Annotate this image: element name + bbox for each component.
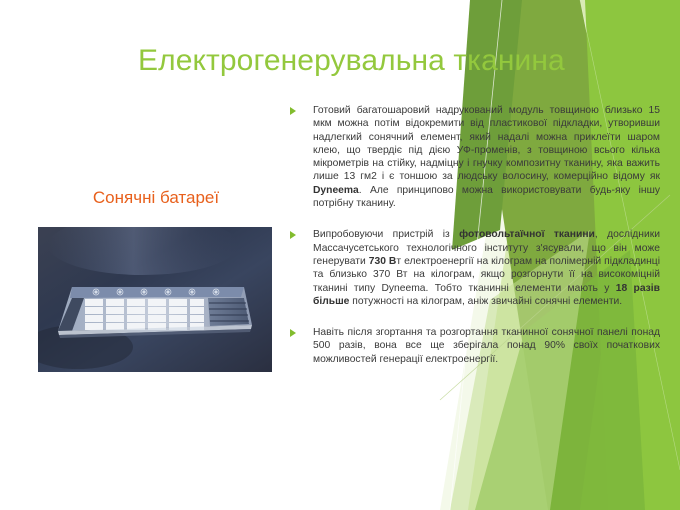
plain-text: Готовий багатошаровий надрукований модул…	[313, 105, 660, 182]
bullet-triangle-icon	[290, 231, 296, 239]
bullet-paragraph-3: Навіть після згортання та розгортання тк…	[288, 326, 660, 366]
paragraph-3-text: Навіть після згортання та розгортання тк…	[313, 326, 660, 366]
plain-text: Навіть після згортання та розгортання тк…	[313, 327, 660, 365]
bullet-paragraph-1: Готовий багатошаровий надрукований модул…	[288, 104, 660, 210]
bullet-triangle-icon	[290, 329, 296, 337]
panel-dark-stripes	[208, 298, 249, 326]
plain-text: потужності на кілограм, аніж звичайні со…	[349, 296, 622, 307]
emphasis-text: 730 В	[369, 256, 397, 267]
paragraph-2-text: Випробовуючи пристрій із фотовольтаїчної…	[313, 228, 660, 308]
bullet-paragraph-2: Випробовуючи пристрій із фотовольтаїчної…	[288, 228, 660, 308]
solar-panel-photo	[38, 227, 272, 372]
emphasis-text: Dyneema	[313, 185, 359, 196]
left-subtitle: Сонячні батареї	[36, 188, 276, 208]
slide-title: Електрогенерувальна тканина	[138, 44, 565, 77]
plain-text: Випробовуючи пристрій із	[313, 229, 459, 240]
presentation-slide: Електрогенерувальна тканина Сонячні бата…	[0, 0, 680, 510]
emphasis-text: фотовольтаїчної тканини	[459, 229, 595, 240]
paragraph-1-text: Готовий багатошаровий надрукований модул…	[313, 104, 660, 210]
plain-text: . Але принципово можна використовувати б…	[313, 185, 660, 209]
solar-panel-photo-svg	[38, 227, 272, 372]
body-text-column: Готовий багатошаровий надрукований модул…	[288, 104, 660, 366]
bullet-triangle-icon	[290, 107, 296, 115]
